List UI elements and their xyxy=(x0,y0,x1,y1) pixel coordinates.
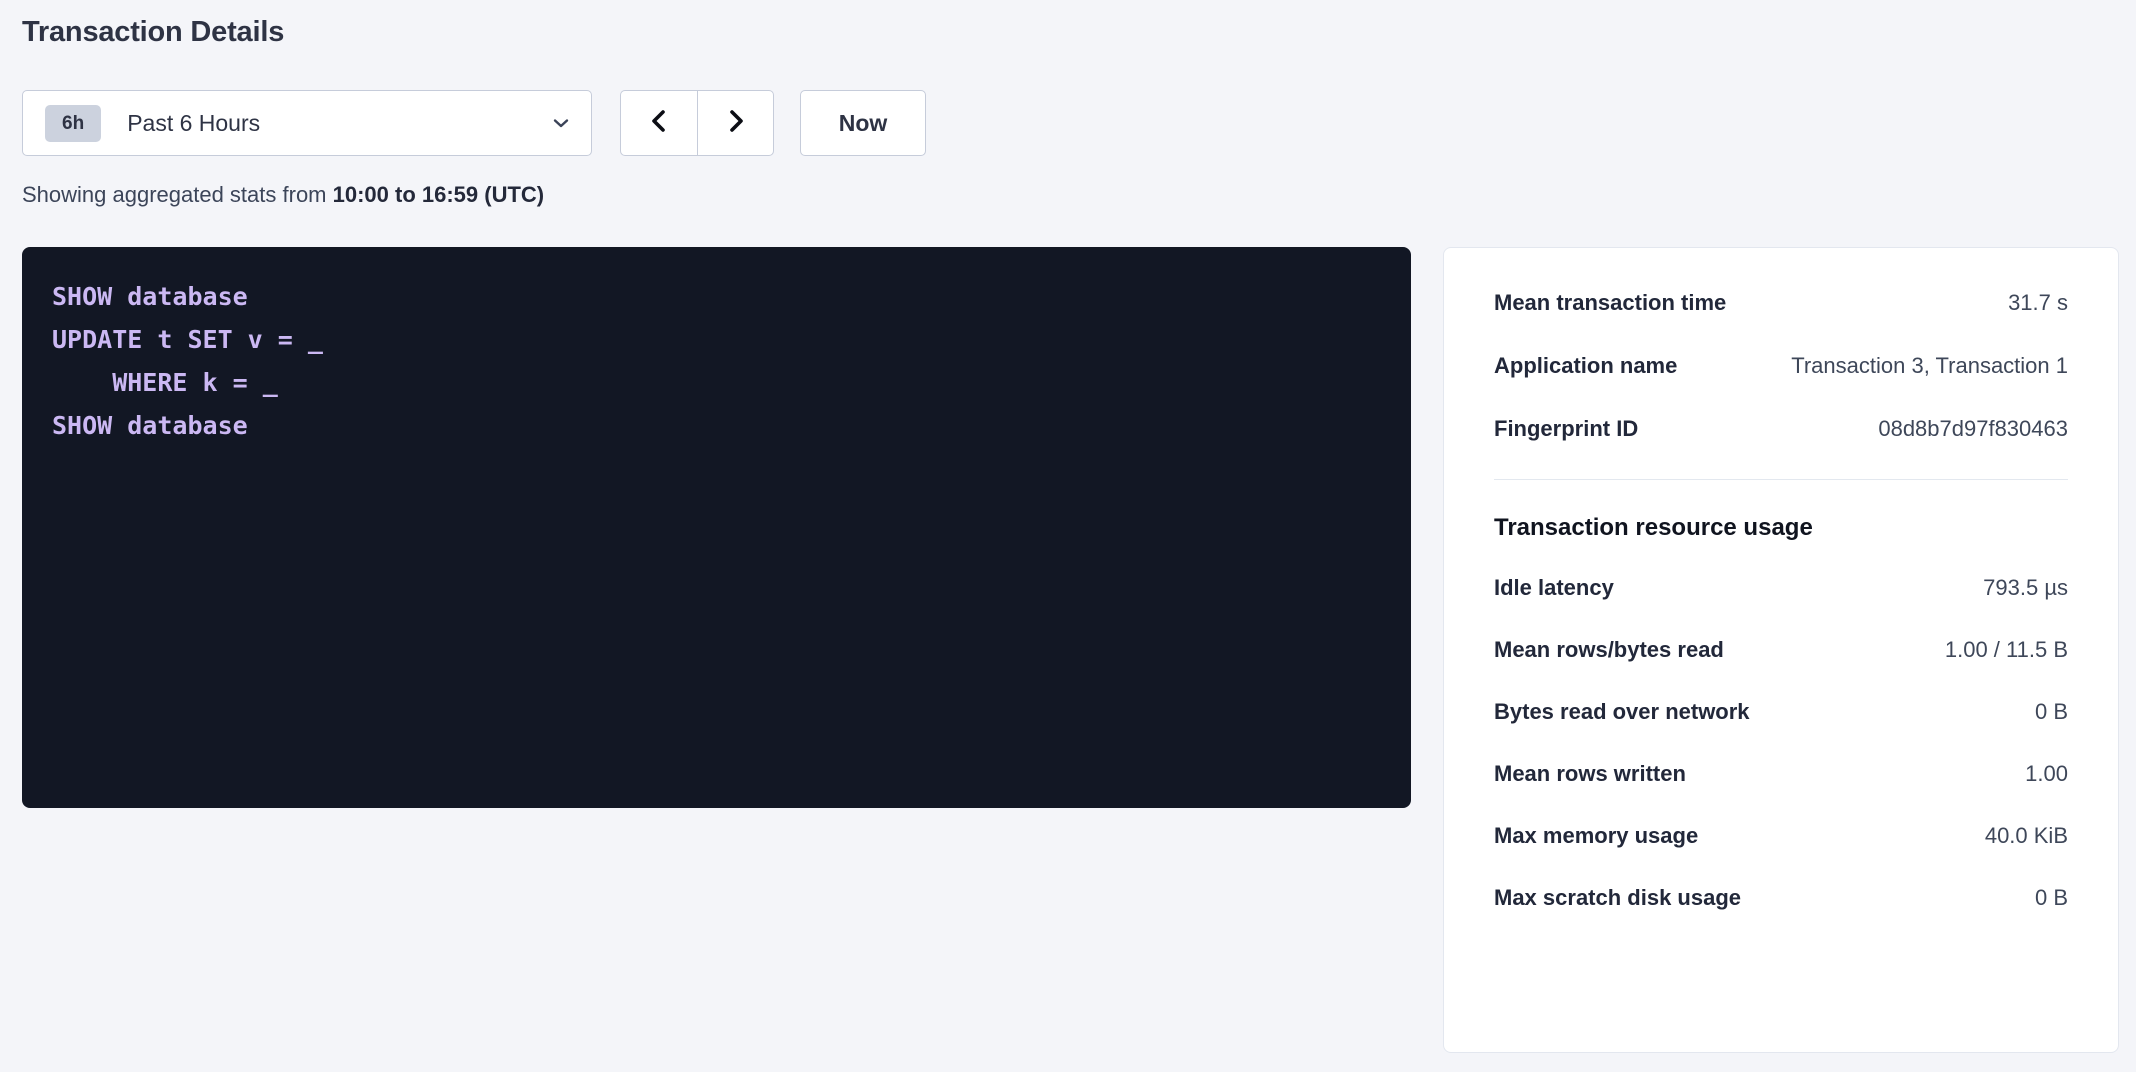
summary-stat-row: Mean transaction time31.7 s xyxy=(1494,290,2068,316)
resource-stats-list: Idle latency793.5 µsMean rows/bytes read… xyxy=(1494,575,2068,911)
summary-stat-row: Application nameTransaction 3, Transacti… xyxy=(1494,353,2068,379)
stat-label: Mean transaction time xyxy=(1494,290,1726,316)
resource-stat-row: Mean rows/bytes read1.00 / 11.5 B xyxy=(1494,637,2068,663)
stat-value: 793.5 µs xyxy=(1983,575,2068,601)
query-code-block[interactable]: SHOW database UPDATE t SET v = _ WHERE k… xyxy=(22,247,1411,808)
time-range-select[interactable]: 6h Past 6 Hours xyxy=(22,90,592,156)
summary-stats-list: Mean transaction time31.7 sApplication n… xyxy=(1494,290,2068,442)
resource-stat-row: Max scratch disk usage0 B xyxy=(1494,885,2068,911)
stat-value: 08d8b7d97f830463 xyxy=(1878,416,2068,442)
resource-stat-row: Mean rows written1.00 xyxy=(1494,761,2068,787)
resource-stat-row: Bytes read over network0 B xyxy=(1494,699,2068,725)
range-summary: Showing aggregated stats from 10:00 to 1… xyxy=(22,182,544,208)
next-period-button[interactable] xyxy=(697,90,774,156)
stat-value: 0 B xyxy=(2035,885,2068,911)
stat-label: Max scratch disk usage xyxy=(1494,885,1741,911)
time-nav-group xyxy=(620,90,774,156)
prev-period-button[interactable] xyxy=(620,90,697,156)
stat-value: 1.00 / 11.5 B xyxy=(1945,637,2068,663)
stat-label: Mean rows written xyxy=(1494,761,1686,787)
stat-value: 40.0 KiB xyxy=(1985,823,2068,849)
transaction-details-card: Mean transaction time31.7 sApplication n… xyxy=(1443,247,2119,1053)
range-summary-value: 10:00 to 16:59 (UTC) xyxy=(333,182,545,207)
chevron-down-icon xyxy=(551,113,571,133)
resource-stat-row: Max memory usage40.0 KiB xyxy=(1494,823,2068,849)
stat-value: 1.00 xyxy=(2025,761,2068,787)
chevron-right-icon xyxy=(723,106,749,141)
stat-label: Application name xyxy=(1494,353,1677,379)
now-button[interactable]: Now xyxy=(800,90,926,156)
stat-label: Mean rows/bytes read xyxy=(1494,637,1724,663)
toolbar: 6h Past 6 Hours Now xyxy=(22,90,926,156)
resource-stat-row: Idle latency793.5 µs xyxy=(1494,575,2068,601)
time-range-badge: 6h xyxy=(45,105,101,142)
chevron-left-icon xyxy=(646,106,672,141)
resource-usage-heading: Transaction resource usage xyxy=(1494,514,2068,542)
stat-value: 31.7 s xyxy=(2008,290,2068,316)
range-summary-prefix: Showing aggregated stats from xyxy=(22,182,333,207)
stat-label: Max memory usage xyxy=(1494,823,1698,849)
query-code-text: SHOW database UPDATE t SET v = _ WHERE k… xyxy=(52,275,1381,447)
summary-stat-row: Fingerprint ID08d8b7d97f830463 xyxy=(1494,416,2068,442)
stat-label: Fingerprint ID xyxy=(1494,416,1638,442)
time-range-label: Past 6 Hours xyxy=(127,110,551,137)
stat-label: Bytes read over network xyxy=(1494,699,1750,725)
stat-value: 0 B xyxy=(2035,699,2068,725)
card-divider xyxy=(1494,479,2068,480)
page-title: Transaction Details xyxy=(22,16,284,49)
stat-value: Transaction 3, Transaction 1 xyxy=(1791,353,2068,379)
stat-label: Idle latency xyxy=(1494,575,1614,601)
